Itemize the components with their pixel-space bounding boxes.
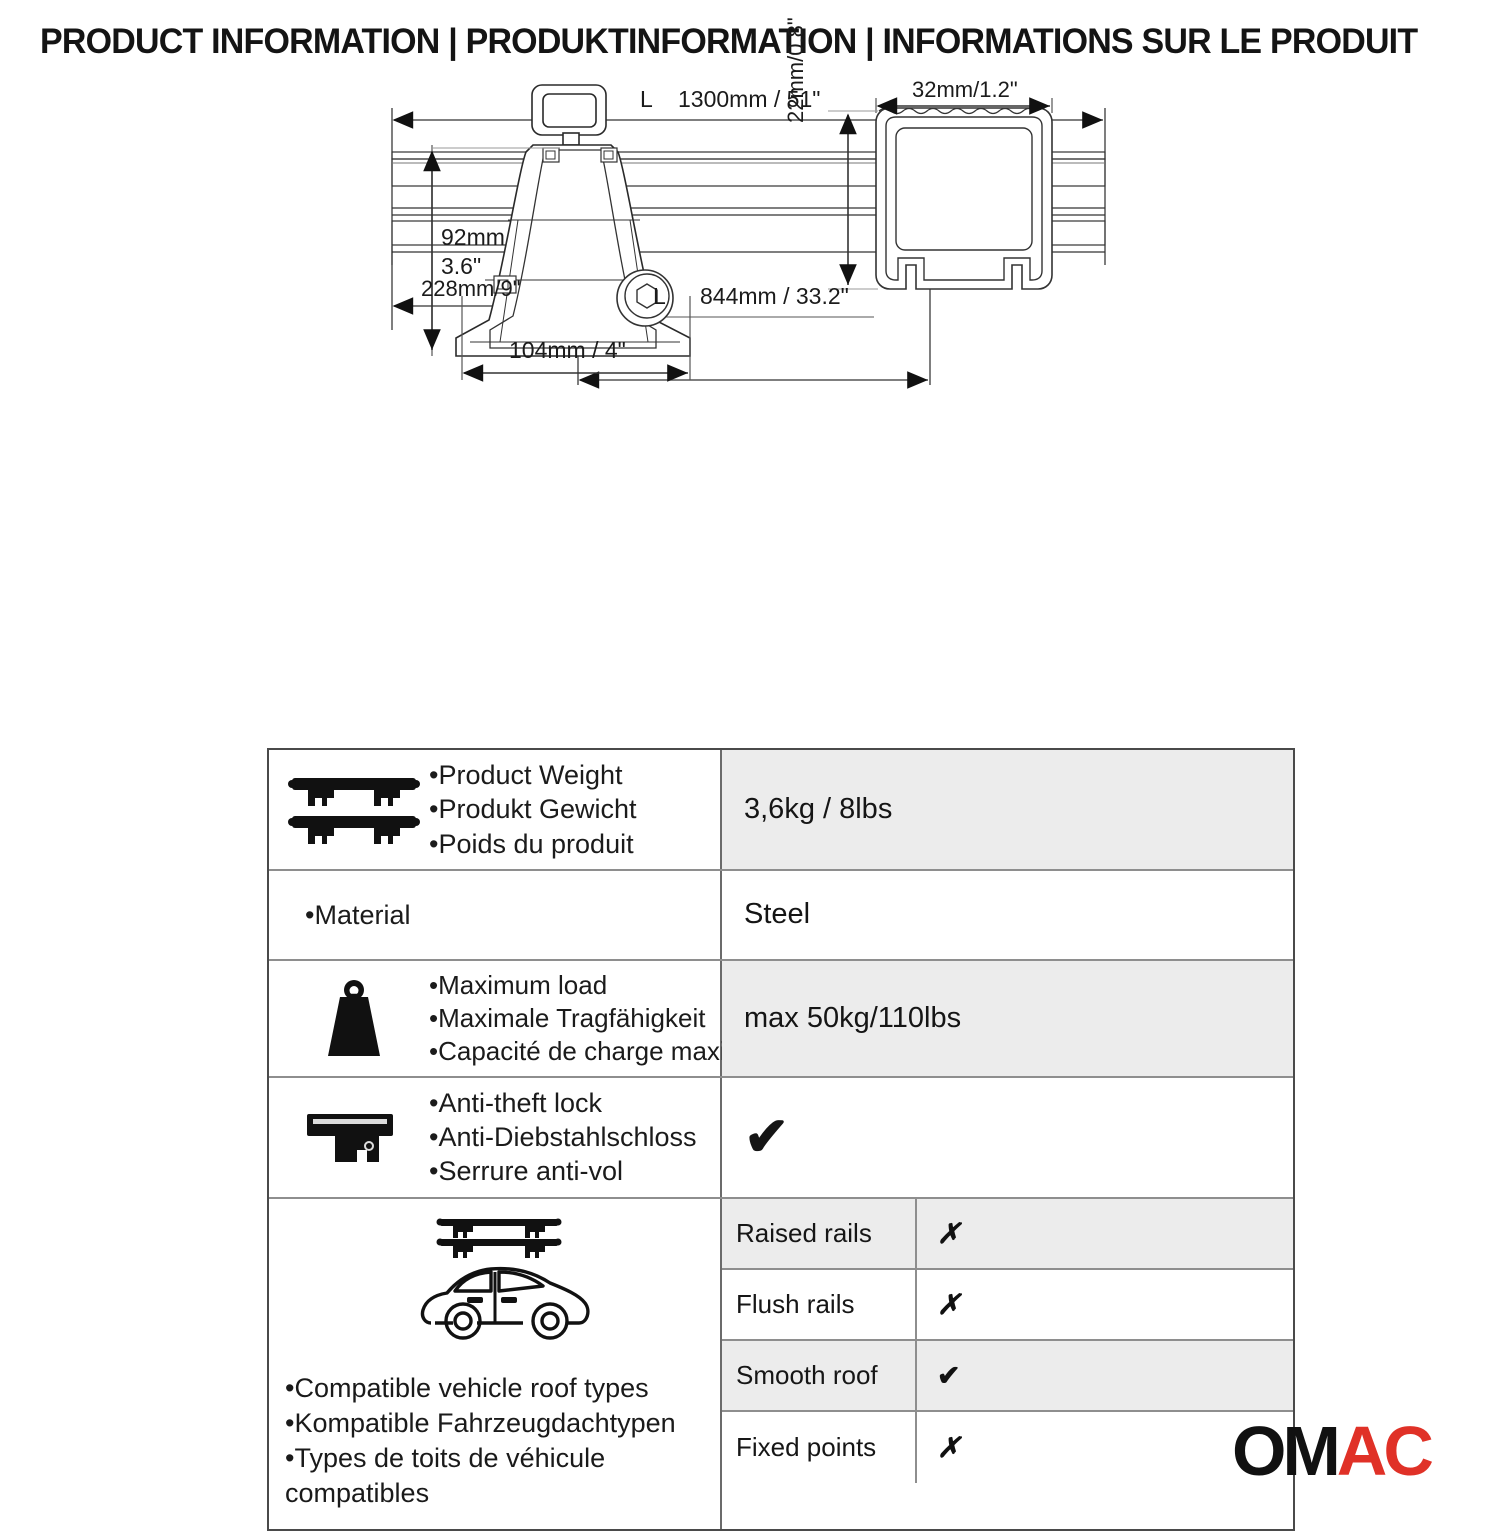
table-row: •Product Weight •Produkt Gewicht •Poids …: [269, 750, 1293, 871]
weight-icon: [279, 976, 429, 1060]
technical-drawing-area: L 1300mm / 51" 228mm/9" L 844mm / 33.2" …: [0, 80, 1500, 730]
car-with-roof-rack-icon: [395, 1211, 605, 1361]
check-icon: ✔: [744, 1110, 789, 1164]
spec-label-text: •Material: [305, 898, 410, 932]
table-row: •Maximum load •Maximale Tragfähigkeit •C…: [269, 961, 1293, 1078]
foot-height-label: 92mm 3.6": [441, 223, 505, 281]
spec-label-text: •Product Weight •Produkt Gewicht •Poids …: [429, 758, 637, 861]
table-row: •Anti-theft lock •Anti-Diebstahlschloss …: [269, 1078, 1293, 1199]
overall-length-prefix: L: [640, 86, 653, 113]
dimension-drawing-svg: [0, 80, 1500, 730]
roof-type-subtable: Raised rails ✗ Flush rails ✗ Smooth roof…: [722, 1199, 1293, 1529]
foot-width-label: 104mm / 4": [509, 337, 626, 364]
spec-label-cell: •Material: [269, 871, 722, 959]
profile-cross-section: [876, 108, 1052, 289]
span-length-label: 844mm / 33.2": [700, 283, 849, 310]
spec-label-cell: •Product Weight •Produkt Gewicht •Poids …: [269, 750, 722, 869]
profile-height-label: 22mm/0.8": [783, 93, 809, 123]
logo-text-accent: AC: [1337, 1412, 1430, 1490]
span-prefix: L: [653, 283, 666, 310]
support-mark: ✗: [917, 1270, 1293, 1339]
product-information-page: PRODUCT INFORMATION | PRODUKTINFORMATION…: [0, 0, 1500, 1500]
specification-table: •Product Weight •Produkt Gewicht •Poids …: [267, 748, 1295, 1531]
profile-width-label: 32mm/1.2": [912, 77, 1018, 103]
page-title: PRODUCT INFORMATION | PRODUKTINFORMATION…: [40, 22, 1427, 62]
table-row-compatibility: •Compatible vehicle roof types •Kompatib…: [269, 1199, 1293, 1529]
logo-text-dark: OM: [1232, 1412, 1337, 1490]
spec-value-material: Steel: [722, 871, 1293, 959]
roof-type-row: Flush rails ✗: [722, 1270, 1293, 1341]
roof-type-row: Fixed points ✗: [722, 1412, 1293, 1483]
compatibility-label-cell: •Compatible vehicle roof types •Kompatib…: [269, 1199, 722, 1529]
table-row: •Material Steel: [269, 871, 1293, 961]
roof-type-row: Smooth roof ✔: [722, 1341, 1293, 1412]
two-crossbars-icon: [279, 770, 429, 848]
spec-value-antitheft: ✔: [722, 1078, 1293, 1197]
spec-value-max-load: max 50kg/110lbs: [722, 961, 1293, 1076]
compatibility-label-text: •Compatible vehicle roof types •Kompatib…: [285, 1371, 714, 1511]
roof-type-row: Raised rails ✗: [722, 1199, 1293, 1270]
support-mark: ✗: [917, 1199, 1293, 1268]
support-mark: ✔: [917, 1341, 1293, 1410]
omac-logo: OMAC: [1232, 1416, 1430, 1486]
spec-label-cell: •Anti-theft lock •Anti-Diebstahlschloss …: [269, 1078, 722, 1197]
lock-icon: [279, 1106, 429, 1168]
spec-label-text: •Anti-theft lock •Anti-Diebstahlschloss …: [429, 1086, 697, 1189]
spec-value-weight: 3,6kg / 8lbs: [722, 750, 1293, 869]
spec-label-cell: •Maximum load •Maximale Tragfähigkeit •C…: [269, 961, 722, 1076]
